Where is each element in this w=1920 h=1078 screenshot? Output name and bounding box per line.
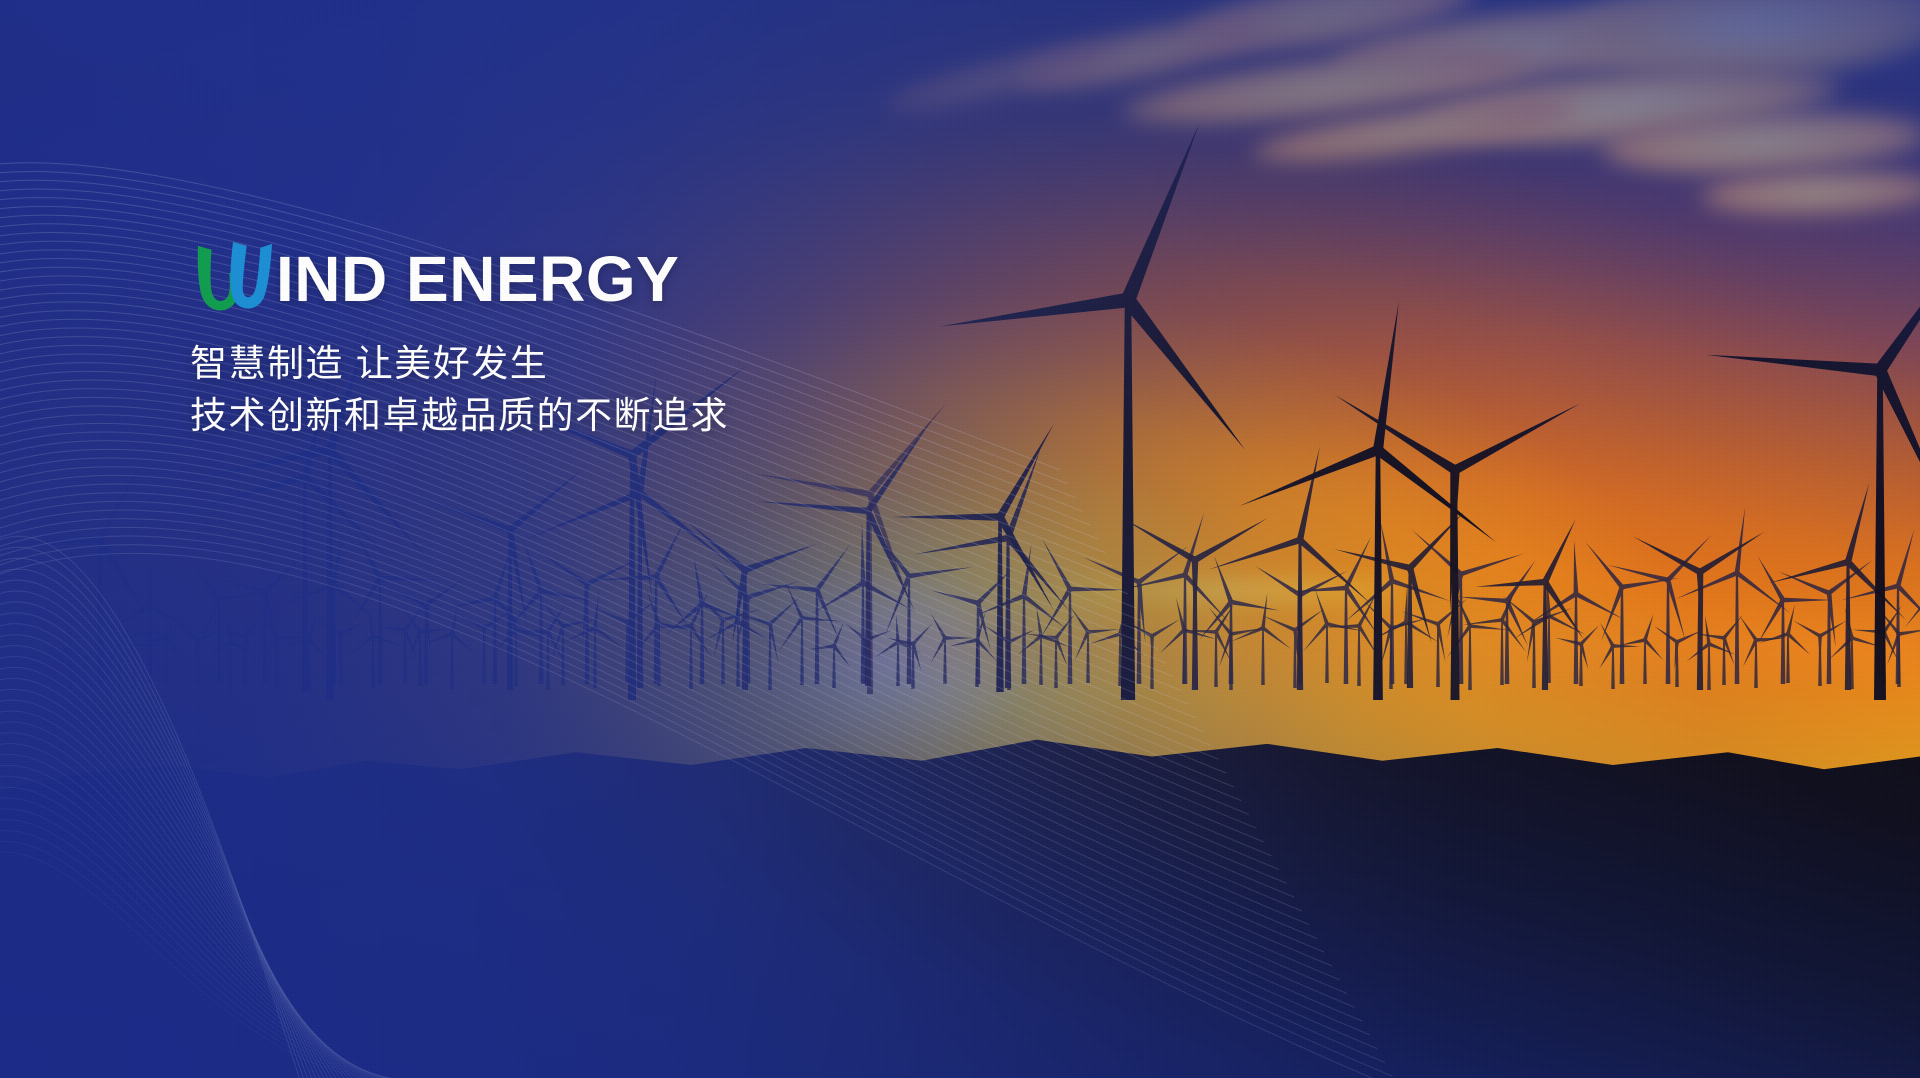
wind-w-logo-icon (190, 240, 280, 318)
decorative-flow-lines (0, 0, 1920, 1078)
brand-block: IND ENERGY 智慧制造 让美好发生 技术创新和卓越品质的不断追求 (190, 240, 1090, 442)
taglines: 智慧制造 让美好发生 技术创新和卓越品质的不断追求 (190, 338, 1090, 442)
tagline-line-2: 技术创新和卓越品质的不断追求 (190, 390, 1090, 442)
tagline-line-1: 智慧制造 让美好发生 (190, 338, 1090, 390)
wind-energy-hero-banner: IND ENERGY 智慧制造 让美好发生 技术创新和卓越品质的不断追求 (0, 0, 1920, 1078)
logo-row: IND ENERGY (190, 240, 1090, 318)
wordmark-text: IND ENERGY (276, 240, 679, 318)
